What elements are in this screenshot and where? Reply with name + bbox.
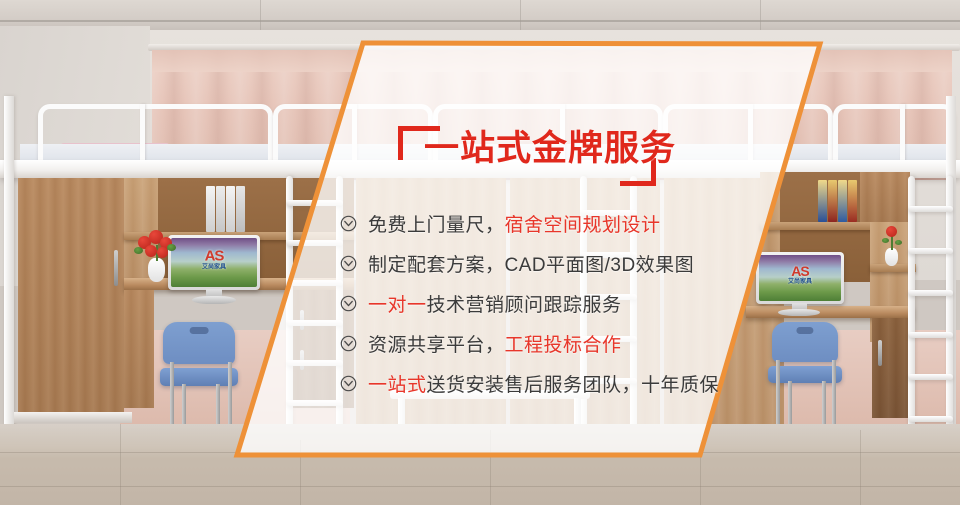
plain-text: 制定配套方案，CAD平面图/3D效果图 (368, 255, 694, 276)
circle-chevron-down-icon (340, 375, 357, 392)
circle-chevron-down-icon (340, 215, 357, 232)
highlighted-text: 宿舍空间规划设计 (505, 215, 661, 236)
list-item-label: 资源共享平台，工程投标合作 (368, 330, 622, 357)
panel-content: 一站式金牌服务 免费上门量尺，宿舍空间规划设计制定配套方案，CAD平面图/3D效… (0, 0, 960, 505)
list-item: 一站式送货安装售后服务团队，十年质保 (340, 363, 740, 403)
list-item: 制定配套方案，CAD平面图/3D效果图 (340, 243, 740, 283)
page-title: 一站式金牌服务 (424, 130, 676, 169)
list-item: 一对一技术营销顾问跟踪服务 (340, 283, 740, 323)
service-list: 免费上门量尺，宿舍空间规划设计制定配套方案，CAD平面图/3D效果图一对一技术营… (340, 203, 740, 403)
list-item-label: 一站式送货安装售后服务团队，十年质保 (368, 370, 719, 397)
headline-block: 一站式金牌服务 (398, 118, 668, 198)
circle-chevron-down-icon (340, 335, 357, 352)
plain-text: 免费上门量尺， (368, 215, 505, 236)
list-item-label: 免费上门量尺，宿舍空间规划设计 (368, 210, 661, 237)
highlighted-text: 一对一 (368, 295, 427, 316)
circle-chevron-down-icon (340, 255, 357, 272)
list-item-label: 一对一技术营销顾问跟踪服务 (368, 290, 622, 317)
service-banner: AS 艾尚家具 (0, 0, 960, 505)
circle-chevron-down-icon (340, 295, 357, 312)
list-item-label: 制定配套方案，CAD平面图/3D效果图 (368, 250, 694, 277)
plain-text: 技术营销顾问跟踪服务 (427, 295, 622, 316)
highlighted-text: 一站式 (368, 375, 427, 396)
list-item: 资源共享平台，工程投标合作 (340, 323, 740, 363)
highlighted-text: 工程投标合作 (505, 335, 622, 356)
plain-text: 送货安装售后服务团队，十年质保 (427, 375, 720, 396)
list-item: 免费上门量尺，宿舍空间规划设计 (340, 203, 740, 243)
plain-text: 资源共享平台， (368, 335, 505, 356)
